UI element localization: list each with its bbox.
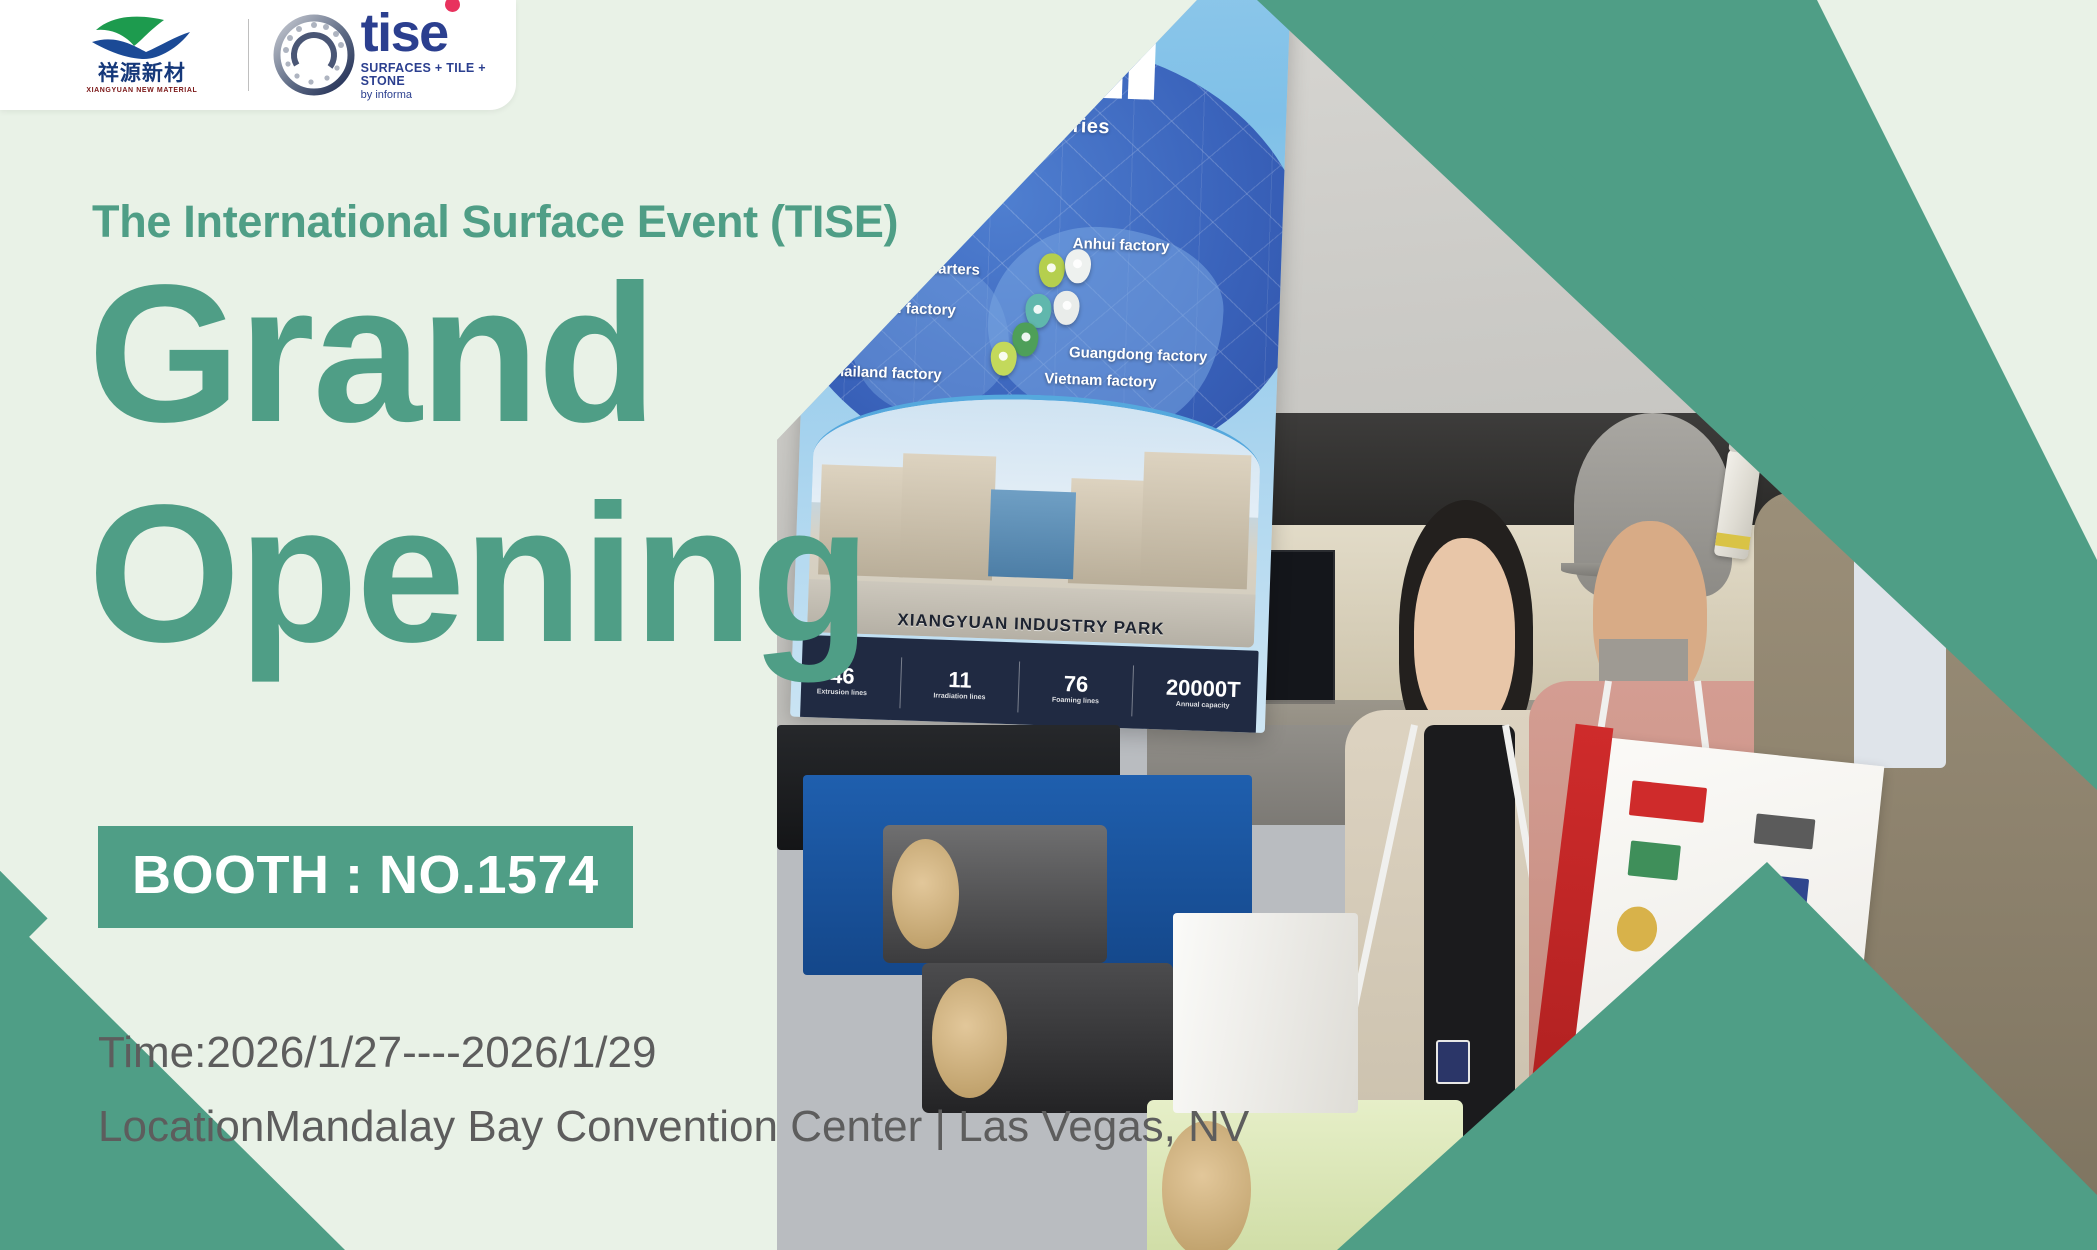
tise-tagline: SURFACES + TILE + STONE xyxy=(361,62,516,87)
tise-by-informa: by informa xyxy=(361,90,516,101)
logo-card: 祥源新材 XIANGYUAN NEW MATERIAL xyxy=(0,0,516,110)
headline-line-2: Opening xyxy=(88,482,869,666)
headline-line-1: Grand xyxy=(88,262,655,446)
text-content: The International Surface Event (TISE) G… xyxy=(0,0,1180,1250)
promotional-banner: 🍴 SNACK BAR Distribution of six factorie… xyxy=(0,0,2097,1250)
tise-wordmark: tise xyxy=(361,9,516,58)
sample-sheet xyxy=(1173,913,1358,1113)
tise-ring-icon xyxy=(271,12,357,98)
xiangyuan-name-cn: 祥源新材 xyxy=(98,63,186,84)
xiangyuan-wave-mark xyxy=(90,16,194,60)
stat-label: Annual capacity xyxy=(1176,701,1230,710)
logo-divider xyxy=(248,19,249,91)
booth-badge: BOOTH : NO.1574 xyxy=(98,826,633,928)
tise-logo: tise SURFACES + TILE + STONE by informa xyxy=(271,9,516,102)
event-location: LocationMandalay Bay Convention Center |… xyxy=(98,1102,1249,1152)
event-time: Time:2026/1/27----2026/1/29 xyxy=(98,1028,656,1078)
xiangyuan-name-en: XIANGYUAN NEW MATERIAL xyxy=(86,87,197,94)
event-name: The International Surface Event (TISE) xyxy=(92,196,898,248)
xiangyuan-logo: 祥源新材 XIANGYUAN NEW MATERIAL xyxy=(58,16,226,94)
